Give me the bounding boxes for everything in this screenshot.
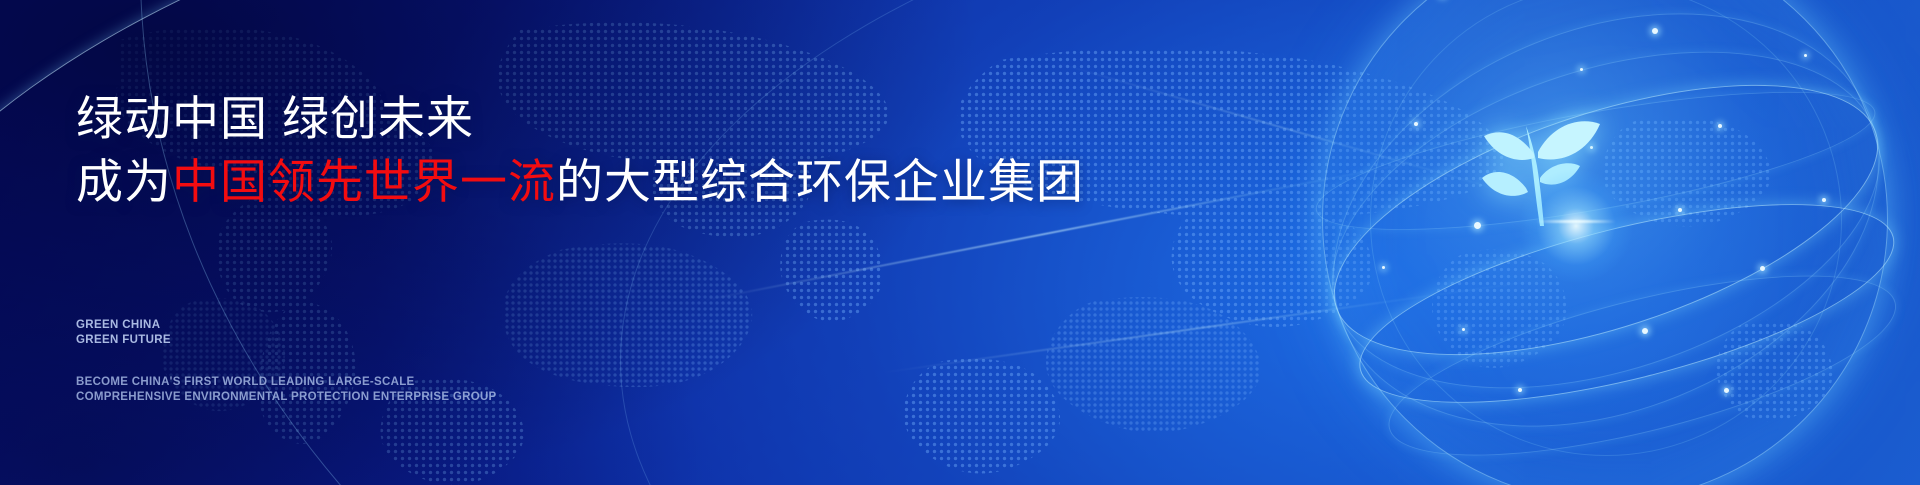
headline-line-1: 绿动中国 绿创未来 — [76, 88, 1084, 149]
headline-suffix: 的大型综合环保企业集团 — [556, 155, 1084, 208]
tagline-en-line-2: GREEN FUTURE — [76, 333, 171, 348]
headline-highlight: 中国领先世界一流 — [172, 155, 556, 208]
globe-core-beam — [1536, 220, 1616, 223]
globe-core-flare — [1518, 168, 1634, 284]
subtitle-en-line-1: BECOME CHINA'S FIRST WORLD LEADING LARGE… — [76, 375, 497, 390]
subtitle-en: BECOME CHINA'S FIRST WORLD LEADING LARGE… — [76, 375, 497, 404]
headline-block: 绿动中国 绿创未来 成为中国领先世界一流的大型综合环保企业集团 — [76, 88, 1084, 212]
digital-globe-icon — [1322, 0, 1888, 485]
headline-prefix: 成为 — [76, 155, 172, 208]
tagline-en: GREEN CHINA GREEN FUTURE — [76, 318, 171, 347]
headline-line-2: 成为中国领先世界一流的大型综合环保企业集团 — [76, 151, 1084, 212]
tagline-en-line-1: GREEN CHINA — [76, 318, 171, 333]
subtitle-en-line-2: COMPREHENSIVE ENVIRONMENTAL PROTECTION E… — [76, 390, 497, 405]
hero-banner: 绿动中国 绿创未来 成为中国领先世界一流的大型综合环保企业集团 GREEN CH… — [0, 0, 1920, 485]
